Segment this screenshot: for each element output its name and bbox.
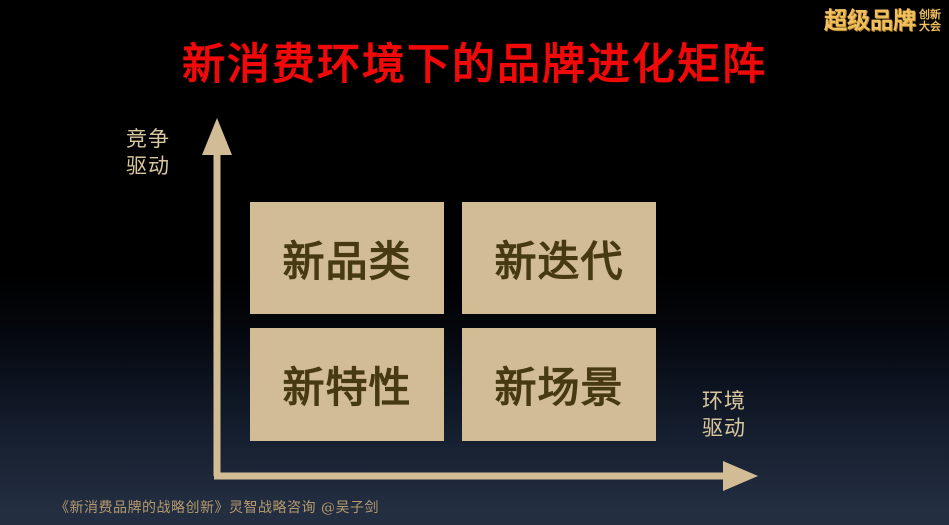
y-axis-label: 竞争 驱动 bbox=[126, 126, 170, 180]
logo-sub-line1: 创新 bbox=[919, 9, 941, 21]
y-axis-arrow-icon bbox=[202, 118, 232, 476]
quadrant-matrix: 新品类 新迭代 新特性 新场景 bbox=[250, 202, 656, 441]
quadrant-cell-bottom-right[interactable]: 新场景 bbox=[462, 328, 656, 441]
quadrant-cell-top-right[interactable]: 新迭代 bbox=[462, 202, 656, 314]
x-axis-arrow-icon bbox=[214, 461, 758, 491]
quadrant-cell-top-left[interactable]: 新品类 bbox=[250, 202, 444, 314]
footer-attribution: 《新消费品牌的战略创新》灵智战略咨询 @吴子剑 bbox=[55, 497, 379, 517]
page-title: 新消费环境下的品牌进化矩阵 bbox=[0, 30, 949, 92]
slide-canvas: 超级品牌 创新 大会 新消费环境下的品牌进化矩阵 竞争 驱动 环境 驱动 新品类… bbox=[0, 0, 949, 525]
quadrant-label: 新特性 bbox=[282, 354, 411, 415]
x-axis-label: 环境 驱动 bbox=[702, 388, 746, 442]
quadrant-cell-bottom-left[interactable]: 新特性 bbox=[250, 328, 444, 441]
quadrant-label: 新品类 bbox=[282, 228, 411, 289]
quadrant-label: 新迭代 bbox=[494, 228, 623, 289]
quadrant-label: 新场景 bbox=[494, 354, 623, 415]
